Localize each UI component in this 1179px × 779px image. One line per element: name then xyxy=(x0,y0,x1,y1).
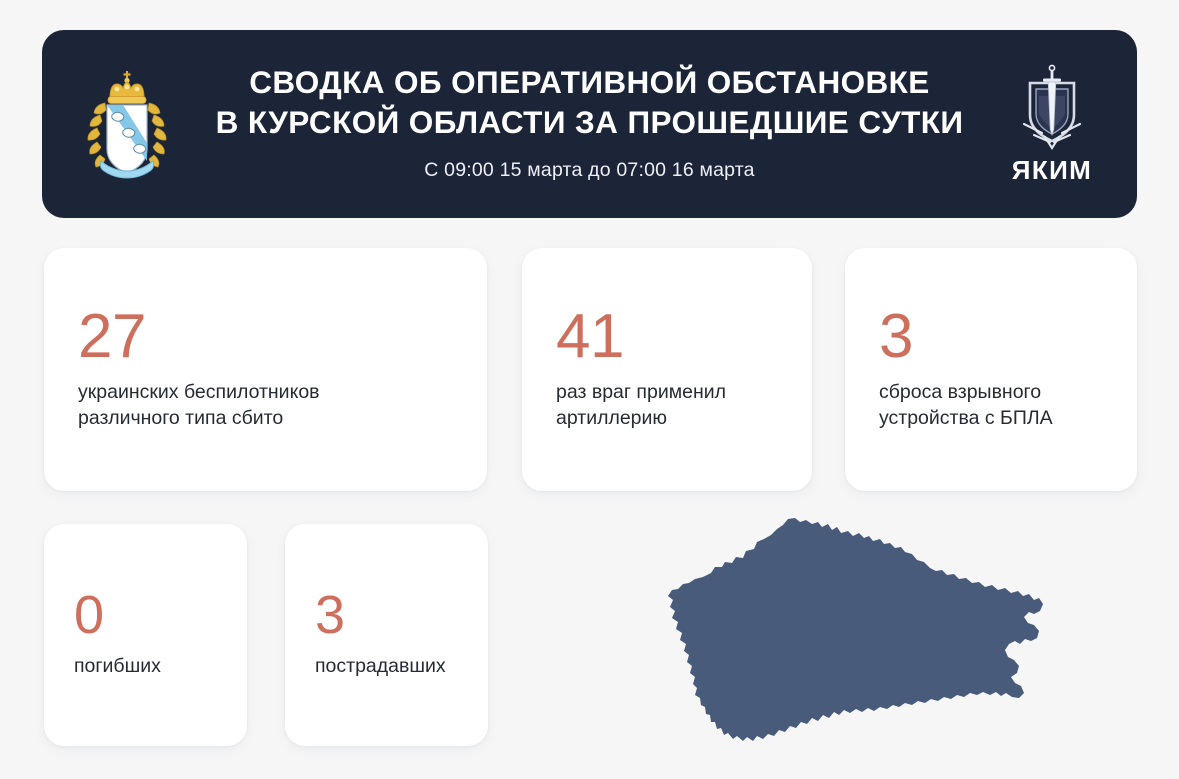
stat-value: 3 xyxy=(879,308,1117,365)
stat-card-artillery-strikes: 41 раз враг применил артиллерию xyxy=(522,248,812,491)
stat-label: украинских беспилотников различного типа… xyxy=(78,379,467,432)
stat-label: раз враг применил артиллерию xyxy=(556,379,792,432)
stat-card-body: 0 погибших xyxy=(74,591,227,679)
stat-card-body: 3 сброса взрывного устройства с БПЛА xyxy=(879,308,1117,432)
stat-value: 41 xyxy=(556,308,792,365)
brand-name: ЯКИМ xyxy=(1012,155,1093,186)
stat-label: сброса взрывного устройства с БПЛА xyxy=(879,379,1117,432)
coat-of-arms-slot xyxy=(42,65,212,183)
stat-label: погибших xyxy=(74,653,227,679)
shield-sword-icon xyxy=(1012,63,1092,151)
stat-value: 3 xyxy=(315,591,468,641)
report-period: С 09:00 15 марта до 07:00 16 марта xyxy=(424,159,754,182)
stat-value: 0 xyxy=(74,591,227,641)
stat-card-body: 3 пострадавших xyxy=(315,591,468,679)
stat-label: пострадавших xyxy=(315,653,468,679)
stat-card-drones-downed: 27 украинских беспилотников различного т… xyxy=(44,248,487,491)
stat-card-body: 27 украинских беспилотников различного т… xyxy=(78,308,467,432)
stat-card-explosive-drops: 3 сброса взрывного устройства с БПЛА xyxy=(845,248,1137,491)
stat-card-body: 41 раз враг применил артиллерию xyxy=(556,308,792,432)
header-text-block: СВОДКА ОБ ОПЕРАТИВНОЙ ОБСТАНОВКЕ В КУРСК… xyxy=(212,62,967,187)
header-banner: СВОДКА ОБ ОПЕРАТИВНОЙ ОБСТАНОВКЕ В КУРСК… xyxy=(42,30,1137,218)
kursk-oblast-silhouette-icon xyxy=(625,505,1055,755)
kursk-coat-of-arms-icon xyxy=(79,65,175,183)
brand-logo-slot: ЯКИМ xyxy=(967,63,1137,186)
infographic-page: СВОДКА ОБ ОПЕРАТИВНОЙ ОБСТАНОВКЕ В КУРСК… xyxy=(0,0,1179,779)
page-title: СВОДКА ОБ ОПЕРАТИВНОЙ ОБСТАНОВКЕ В КУРСК… xyxy=(216,62,964,143)
stat-card-injured: 3 пострадавших xyxy=(285,524,488,746)
stat-card-killed: 0 погибших xyxy=(44,524,247,746)
stat-value: 27 xyxy=(78,308,467,365)
kursk-oblast-map xyxy=(625,505,1055,755)
